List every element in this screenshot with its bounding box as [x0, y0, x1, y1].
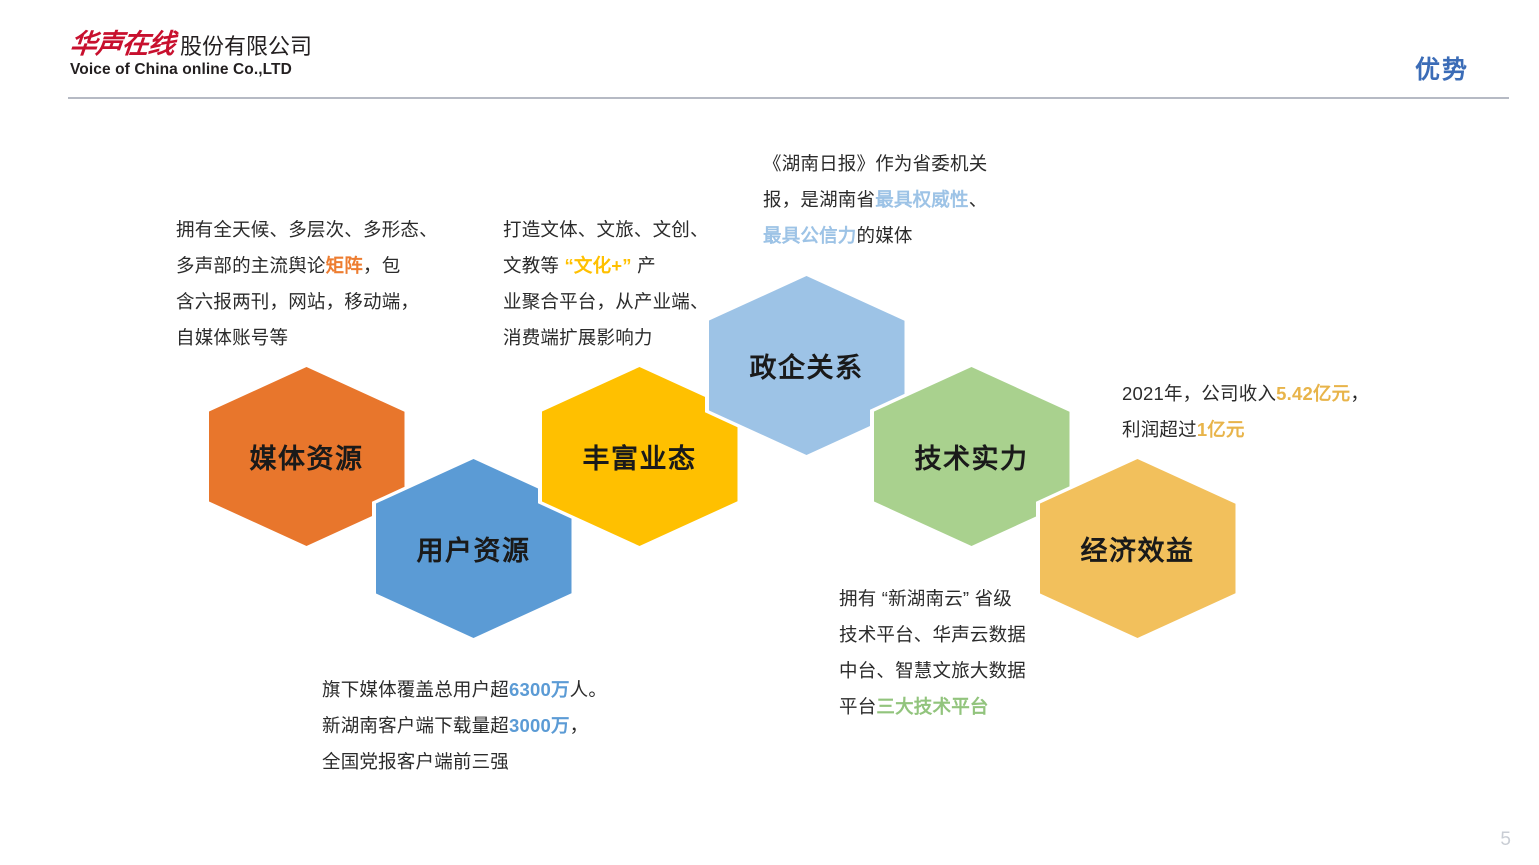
- note-media-resources: 拥有全天候、多层次、多形态、多声部的主流舆论矩阵，包含六报两刊，网站，移动端，自…: [176, 212, 466, 356]
- note-rich-business-highlight: “文化+”: [559, 255, 637, 276]
- note-rich-business-line: 消费端扩展影响力: [503, 320, 733, 356]
- note-economic-benefit-line: 2021年，公司收入5.42亿元，: [1122, 376, 1422, 412]
- note-economic-benefit-text: 利润超过: [1122, 419, 1197, 440]
- logo-company-suffix: 股份有限公司: [180, 35, 312, 58]
- note-gov-enterprise-line: 最具公信力的媒体: [763, 218, 1023, 254]
- note-rich-business-line: 打造文体、文旅、文创、: [503, 212, 733, 248]
- slide-header: 华声在线 股份有限公司 Voice of China online Co.,LT…: [0, 0, 1539, 100]
- note-technical-strength-line: 技术平台、华声云数据: [839, 617, 1069, 653]
- note-user-resources-text: ，: [570, 715, 589, 736]
- note-media-resources-line: 自媒体账号等: [176, 320, 466, 356]
- note-gov-enterprise-highlight: 最具公信力: [763, 225, 857, 246]
- note-technical-strength-text: 拥有 “新湖南云” 省级: [839, 588, 1012, 609]
- note-technical-strength-line: 中台、智慧文旅大数据: [839, 653, 1069, 689]
- note-gov-enterprise-text: 《湖南日报》作为省委机关: [763, 153, 987, 174]
- note-technical-strength: 拥有 “新湖南云” 省级技术平台、华声云数据中台、智慧文旅大数据平台三大技术平台: [839, 581, 1069, 725]
- note-rich-business-text: 产: [637, 255, 656, 276]
- page-number: 5: [1500, 829, 1511, 851]
- note-rich-business-line: 业聚合平台，从产业端、: [503, 284, 733, 320]
- hexagon-label-user-resources: 用户资源: [417, 529, 531, 568]
- note-rich-business-text: 消费端扩展影响力: [503, 327, 653, 348]
- note-user-resources: 旗下媒体覆盖总用户超6300万人。新湖南客户端下载量超3000万，全国党报客户端…: [322, 672, 662, 780]
- note-media-resources-text: 自媒体账号等: [176, 327, 288, 348]
- page-title: 优势: [1415, 50, 1469, 86]
- note-economic-benefit-line: 利润超过1亿元: [1122, 412, 1422, 448]
- note-user-resources-text: 人。: [570, 679, 607, 700]
- hexagon-label-economic-benefit: 经济效益: [1081, 529, 1195, 568]
- note-user-resources-line: 全国党报客户端前三强: [322, 744, 662, 780]
- note-rich-business-text: 业聚合平台，从产业端、: [503, 291, 709, 312]
- note-gov-enterprise-highlight: 最具权威性: [875, 189, 969, 210]
- hexagon-label-rich-business: 丰富业态: [583, 437, 697, 476]
- note-technical-strength-text: 技术平台、华声云数据: [839, 624, 1026, 645]
- note-media-resources-line: 拥有全天候、多层次、多形态、: [176, 212, 466, 248]
- note-economic-benefit-highlight: 5.42亿元: [1276, 383, 1350, 404]
- note-gov-enterprise-relations: 《湖南日报》作为省委机关报，是湖南省最具权威性、最具公信力的媒体: [763, 146, 1023, 254]
- note-gov-enterprise-line: 《湖南日报》作为省委机关: [763, 146, 1023, 182]
- note-rich-business-line: 文教等 “文化+” 产: [503, 248, 733, 284]
- note-user-resources-text: 新湖南客户端下载量超: [322, 715, 509, 736]
- note-media-resources-line: 含六报两刊，网站，移动端，: [176, 284, 466, 320]
- hexagon-label-media-resources: 媒体资源: [250, 437, 364, 476]
- note-media-resources-highlight: 矩阵: [326, 255, 363, 276]
- note-media-resources-text: ，包: [363, 255, 400, 276]
- note-rich-business-text: 文教等: [503, 255, 559, 276]
- note-user-resources-text: 旗下媒体覆盖总用户超: [322, 679, 509, 700]
- hexagon-label-technical-strength: 技术实力: [915, 437, 1029, 476]
- company-logo: 华声在线 股份有限公司 Voice of China online Co.,LT…: [70, 31, 312, 79]
- note-rich-business: 打造文体、文旅、文创、文教等 “文化+” 产业聚合平台，从产业端、消费端扩展影响…: [503, 212, 733, 356]
- note-technical-strength-highlight: 三大技术平台: [876, 696, 988, 717]
- note-gov-enterprise-text: 、: [969, 189, 988, 210]
- note-user-resources-highlight: 3000万: [509, 715, 570, 736]
- note-user-resources-line: 新湖南客户端下载量超3000万，: [322, 708, 662, 744]
- note-technical-strength-text: 中台、智慧文旅大数据: [839, 660, 1026, 681]
- slide-canvas: 华声在线 股份有限公司 Voice of China online Co.,LT…: [0, 0, 1539, 865]
- note-economic-benefit-text: 2021年，公司收入: [1122, 383, 1276, 404]
- note-technical-strength-text: 平台: [839, 696, 876, 717]
- note-technical-strength-line: 拥有 “新湖南云” 省级: [839, 581, 1069, 617]
- header-divider: [68, 97, 1509, 99]
- note-economic-benefit: 2021年，公司收入5.42亿元，利润超过1亿元: [1122, 376, 1422, 448]
- note-rich-business-text: 打造文体、文旅、文创、: [503, 219, 709, 240]
- note-media-resources-text: 含六报两刊，网站，移动端，: [176, 291, 419, 312]
- note-economic-benefit-highlight: 1亿元: [1197, 419, 1245, 440]
- note-user-resources-text: 全国党报客户端前三强: [322, 751, 509, 772]
- hexagon-label-gov-enterprise-relations: 政企关系: [750, 346, 864, 385]
- note-gov-enterprise-text: 报，是湖南省: [763, 189, 875, 210]
- note-media-resources-text: 多声部的主流舆论: [176, 255, 326, 276]
- logo-english-name: Voice of China online Co.,LTD: [70, 61, 292, 79]
- note-media-resources-text: 拥有全天候、多层次、多形态、: [176, 219, 438, 240]
- note-media-resources-line: 多声部的主流舆论矩阵，包: [176, 248, 466, 284]
- note-user-resources-highlight: 6300万: [509, 679, 570, 700]
- note-user-resources-line: 旗下媒体覆盖总用户超6300万人。: [322, 672, 662, 708]
- note-economic-benefit-text: ，: [1350, 383, 1369, 404]
- logo-row: 华声在线 股份有限公司: [70, 31, 312, 58]
- note-gov-enterprise-line: 报，是湖南省最具权威性、: [763, 182, 1023, 218]
- note-gov-enterprise-text: 的媒体: [857, 225, 913, 246]
- note-technical-strength-line: 平台三大技术平台: [839, 689, 1069, 725]
- logo-calligraphy-mark: 华声在线: [69, 31, 176, 58]
